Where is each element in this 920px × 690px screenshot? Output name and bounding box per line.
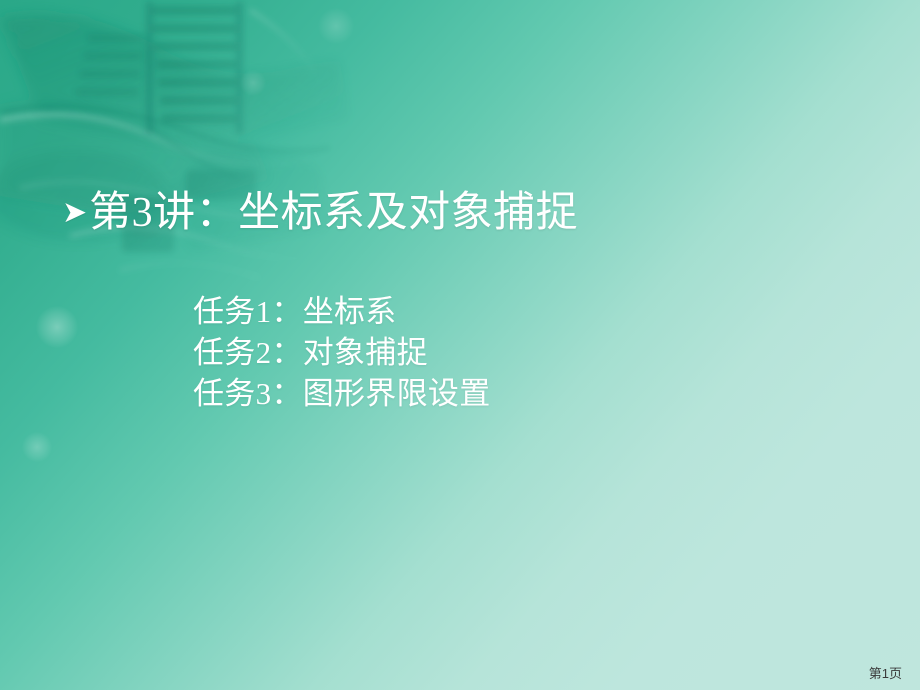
light-bokeh-dot <box>318 8 354 44</box>
page-number: 第1页 <box>869 663 902 682</box>
slide-title: ➤ 第3讲：坐标系及对象捕捉 <box>62 190 578 237</box>
light-bokeh-dot <box>36 306 78 348</box>
background-photo-overlay <box>0 0 470 300</box>
light-bokeh-dot <box>240 70 266 96</box>
slide-title-text: 第3讲：坐标系及对象捕捉 <box>89 190 578 237</box>
presentation-slide: ➤ 第3讲：坐标系及对象捕捉 任务1：坐标系 任务2：对象捕捉 任务3：图形界限… <box>0 0 920 690</box>
light-bokeh-dot <box>22 432 52 462</box>
arrowhead-bullet-icon: ➤ <box>62 198 87 228</box>
task-list-item: 任务3：图形界限设置 <box>193 373 491 414</box>
task-list: 任务1：坐标系 任务2：对象捕捉 任务3：图形界限设置 <box>193 291 491 414</box>
task-list-item: 任务1：坐标系 <box>193 291 491 332</box>
task-list-item: 任务2：对象捕捉 <box>193 332 491 373</box>
